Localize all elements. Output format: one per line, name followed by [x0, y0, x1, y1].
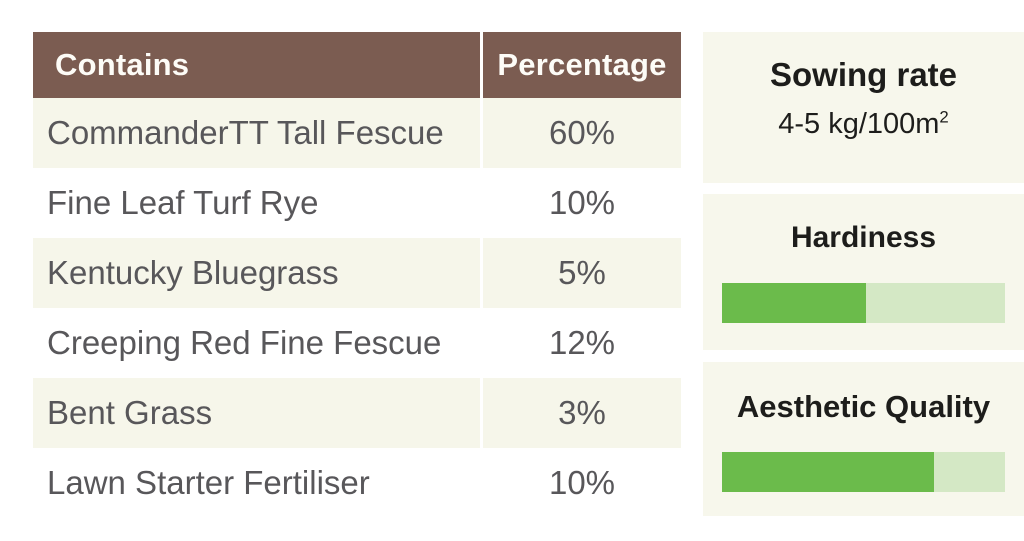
column-header-contains: Contains	[33, 32, 480, 98]
sowing-rate-value: 4-5 kg/100m2	[703, 108, 1024, 141]
sowing-rate-value-superscript: 2	[939, 107, 948, 126]
cell-ingredient-name: Kentucky Bluegrass	[33, 238, 480, 308]
sowing-rate-value-text: 4-5 kg/100m	[778, 108, 939, 140]
table-row: Creeping Red Fine Fescue 12%	[33, 308, 681, 378]
spec-cards-panel: Sowing rate 4-5 kg/100m2 Hardiness Aesth…	[703, 32, 1024, 516]
cell-ingredient-name: Fine Leaf Turf Rye	[33, 168, 480, 238]
table-row: Kentucky Bluegrass 5%	[33, 238, 681, 308]
seed-composition-table: Contains Percentage CommanderTT Tall Fes…	[33, 32, 681, 518]
hardiness-meter-track	[722, 283, 1005, 323]
cell-ingredient-percentage: 5%	[483, 238, 681, 308]
cell-ingredient-percentage: 3%	[483, 378, 681, 448]
sowing-rate-card: Sowing rate 4-5 kg/100m2	[703, 32, 1024, 183]
table-body: CommanderTT Tall Fescue 60% Fine Leaf Tu…	[33, 98, 681, 518]
hardiness-title: Hardiness	[703, 221, 1024, 256]
cell-ingredient-percentage: 12%	[483, 308, 681, 378]
hardiness-meter-fill	[722, 283, 866, 323]
cell-ingredient-name: Bent Grass	[33, 378, 480, 448]
table-row: CommanderTT Tall Fescue 60%	[33, 98, 681, 168]
table-row: Bent Grass 3%	[33, 378, 681, 448]
cell-ingredient-percentage: 10%	[483, 448, 681, 518]
sowing-rate-title: Sowing rate	[703, 56, 1024, 94]
hardiness-card: Hardiness	[703, 194, 1024, 350]
cell-ingredient-percentage: 10%	[483, 168, 681, 238]
cell-ingredient-name: Lawn Starter Fertiliser	[33, 448, 480, 518]
table-header-row: Contains Percentage	[33, 32, 681, 98]
aesthetic-quality-meter-track	[722, 452, 1005, 492]
product-spec-panel: Contains Percentage CommanderTT Tall Fes…	[0, 0, 1024, 541]
cell-ingredient-name: CommanderTT Tall Fescue	[33, 98, 480, 168]
table-row: Fine Leaf Turf Rye 10%	[33, 168, 681, 238]
aesthetic-quality-meter-fill	[722, 452, 934, 492]
cell-ingredient-name: Creeping Red Fine Fescue	[33, 308, 480, 378]
column-header-percentage: Percentage	[483, 32, 681, 98]
aesthetic-quality-title: Aesthetic Quality	[703, 389, 1024, 425]
table-row: Lawn Starter Fertiliser 10%	[33, 448, 681, 518]
aesthetic-quality-card: Aesthetic Quality	[703, 362, 1024, 516]
cell-ingredient-percentage: 60%	[483, 98, 681, 168]
